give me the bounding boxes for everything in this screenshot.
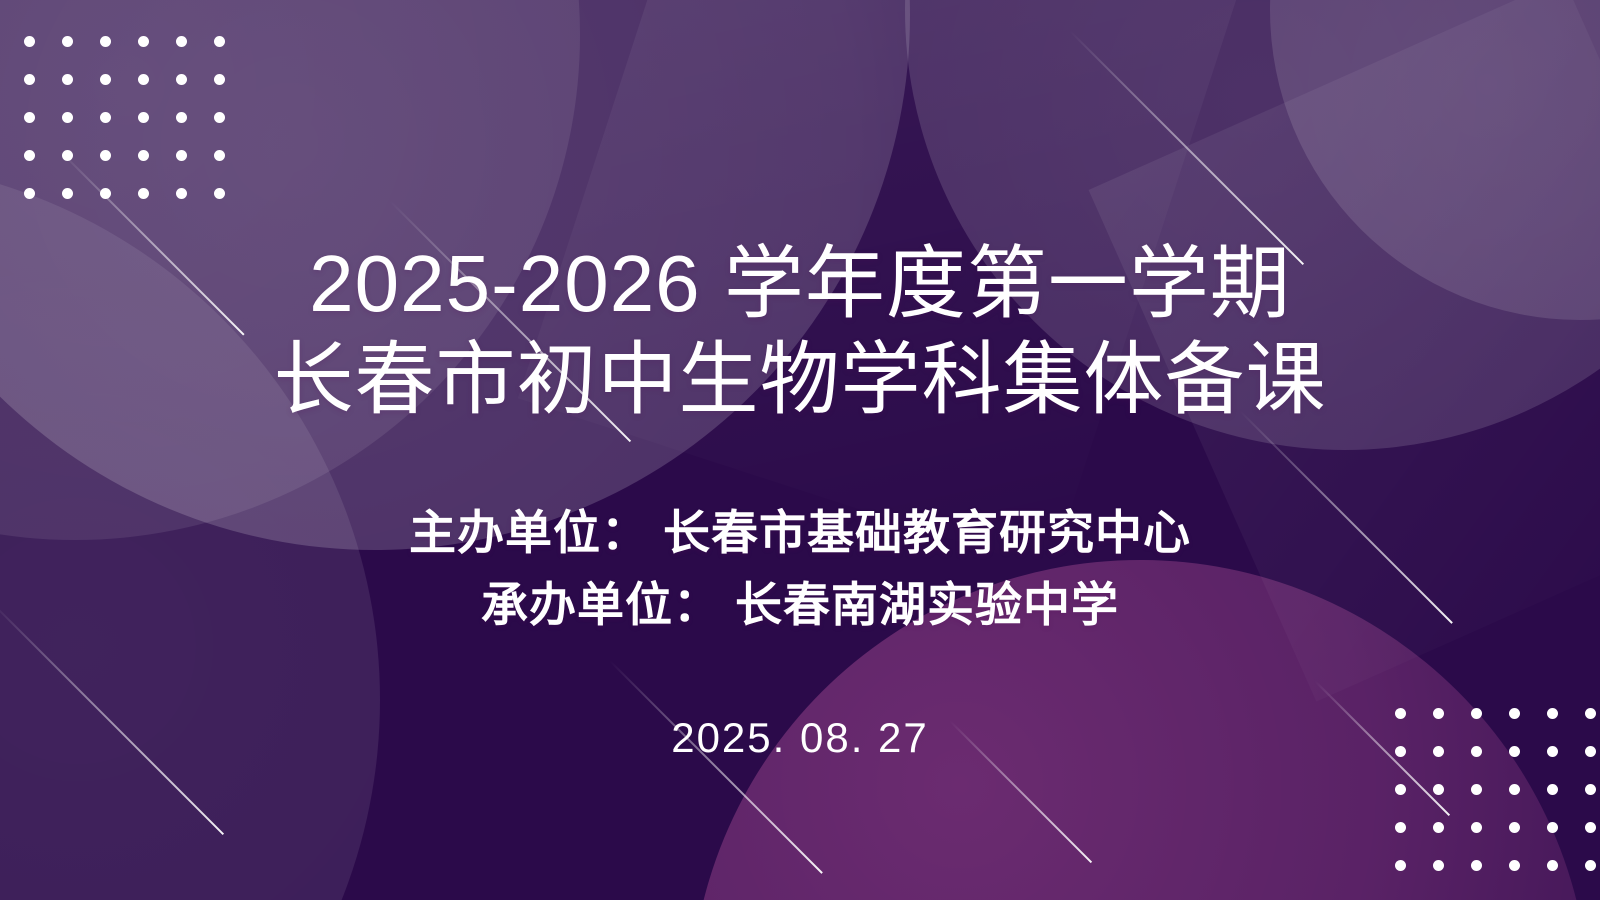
slide-title: 2025-2026 学年度第一学期 长春市初中生物学科集体备课 — [0, 236, 1600, 428]
slide-date: 2025. 08. 27 — [0, 710, 1600, 766]
slide-date-text: 2025. 08. 27 — [0, 710, 1600, 766]
slide-title-line-2: 长春市初中生物学科集体备课 — [0, 332, 1600, 428]
slide-subtitle-host: 承办单位： 长春南湖实验中学 — [0, 569, 1600, 641]
slide-title-line-1: 2025-2026 学年度第一学期 — [0, 236, 1600, 332]
slide-content: 2025-2026 学年度第一学期 长春市初中生物学科集体备课 主办单位： 长春… — [0, 0, 1600, 900]
slide-subtitle: 主办单位： 长春市基础教育研究中心 承办单位： 长春南湖实验中学 — [0, 497, 1600, 641]
slide-subtitle-organizer: 主办单位： 长春市基础教育研究中心 — [0, 497, 1600, 569]
title-slide: 2025-2026 学年度第一学期 长春市初中生物学科集体备课 主办单位： 长春… — [0, 0, 1600, 900]
